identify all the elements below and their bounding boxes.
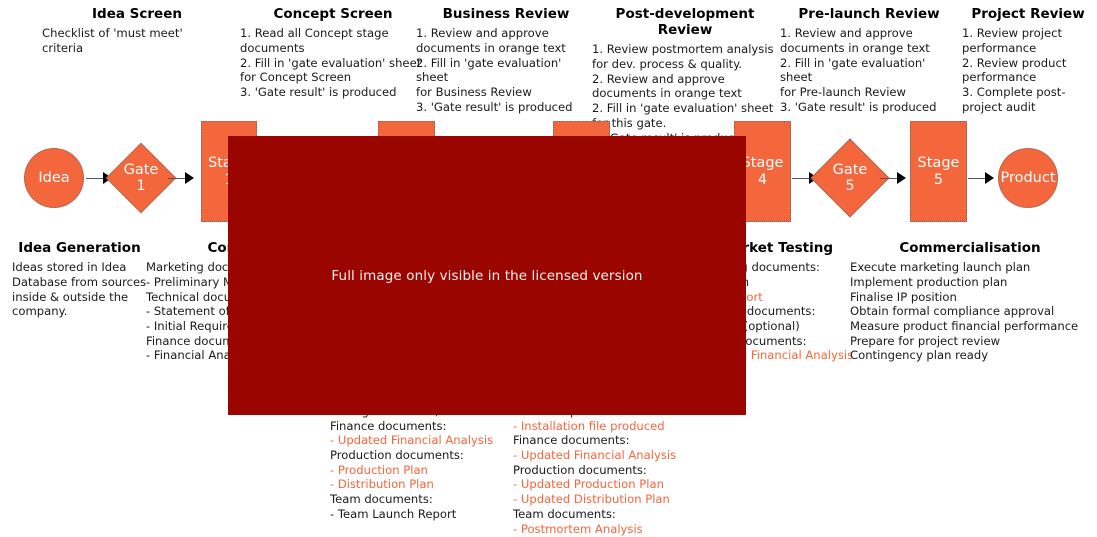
gate-header-body: 1. Review and approvedocuments in orange…	[416, 26, 596, 114]
flow-node-product[interactable]: Product	[998, 148, 1058, 208]
stage-description-body: Execute marketing launch planImplement p…	[850, 260, 1090, 363]
stage-description-title: Commercialisation	[850, 240, 1090, 256]
flow-node-label: Stage 5	[918, 155, 960, 187]
gate-header-project-review: Project Review 1. Review projectperforma…	[962, 6, 1094, 114]
gate-header-concept-screen: Concept Screen 1. Read all Concept stage…	[240, 6, 426, 100]
gate-header-title: Idea Screen	[42, 6, 232, 22]
stage-description-title: Idea Generation	[12, 240, 147, 256]
gate-header-title: Project Review	[962, 6, 1094, 22]
gate-header-title: Concept Screen	[240, 6, 426, 22]
gate-header-body: 1. Review projectperformance2. Review pr…	[962, 26, 1094, 114]
gate-header-body: 1. Review and approvedocuments in orange…	[780, 26, 958, 114]
arrowhead-icon	[985, 172, 994, 184]
flow-node-label: Gate 1	[124, 162, 159, 194]
gate-header-body: 1. Read all Concept stagedocuments2. Fil…	[240, 26, 426, 99]
flow-node-label: Idea	[38, 170, 69, 186]
lower-column-body: - User Help files- Installation file pro…	[513, 404, 708, 536]
flow-node-idea[interactable]: Idea	[24, 148, 84, 208]
gate-header-pre-launch-review: Pre-launch Review 1. Review and approved…	[780, 6, 958, 114]
flow-node-label: Gate 5	[833, 162, 868, 194]
gate-header-business-review: Business Review 1. Review and approvedoc…	[416, 6, 596, 114]
overlay-message: Full image only visible in the licensed …	[331, 268, 642, 284]
flow-node-label: Product	[1000, 170, 1055, 186]
gate-header-body: Checklist of 'must meet'criteria	[42, 26, 232, 55]
lower-column-testing: - User Help files- Installation file pro…	[513, 404, 708, 536]
lower-column-development: Management Plan)Finance documents:- Upda…	[330, 404, 515, 522]
arrowhead-icon	[185, 172, 194, 184]
lower-column-body: Management Plan)Finance documents:- Upda…	[330, 404, 515, 522]
diagram-canvas: Idea Screen Checklist of 'must meet'crit…	[0, 0, 1097, 537]
flow-node-label: Stage 4	[742, 155, 784, 187]
stage-description-idea-generation: Idea Generation Ideas stored in IdeaData…	[12, 240, 147, 319]
flow-node-stage-5[interactable]: Stage 5	[910, 121, 967, 222]
licensed-version-overlay: Full image only visible in the licensed …	[228, 136, 746, 415]
gate-header-title: Business Review	[416, 6, 596, 22]
gate-header-title: Pre-launch Review	[780, 6, 958, 22]
stage-description-body: Ideas stored in IdeaDatabase from source…	[12, 260, 147, 319]
stage-description-commercialisation: Commercialisation Execute marketing laun…	[850, 240, 1090, 363]
flow-node-gate-1[interactable]: Gate 1	[116, 153, 166, 203]
gate-header-idea-screen: Idea Screen Checklist of 'must meet'crit…	[42, 6, 232, 56]
arrowhead-icon	[897, 172, 906, 184]
flow-node-gate-5[interactable]: Gate 5	[822, 150, 878, 206]
gate-header-title: Post-development Review	[592, 6, 778, 38]
